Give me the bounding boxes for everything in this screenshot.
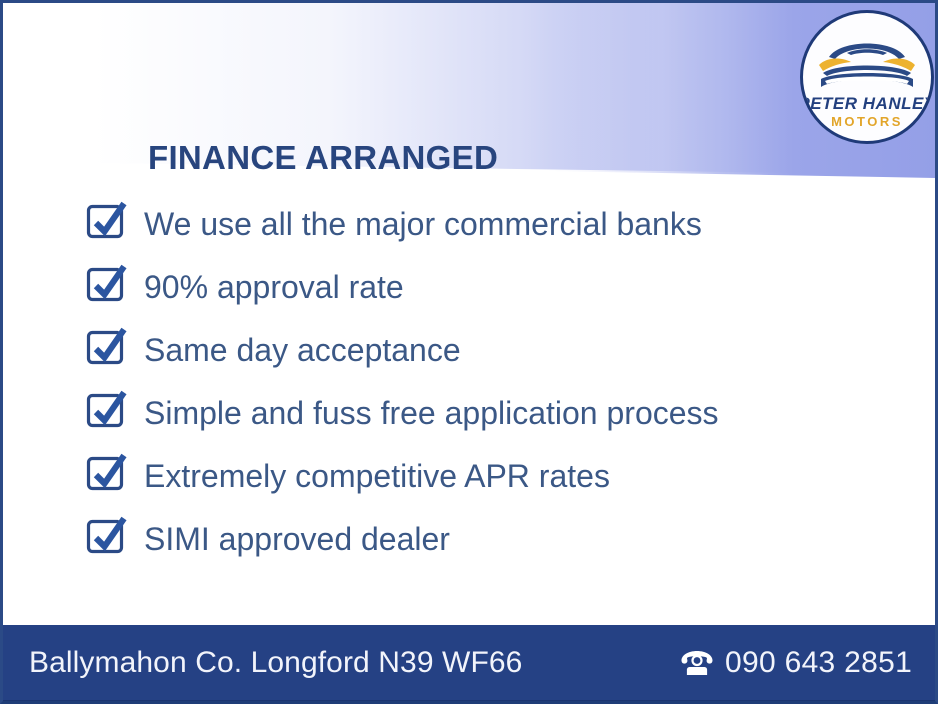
svg-text:MOTORS: MOTORS: [831, 114, 903, 129]
checkbox-checked-icon: [83, 453, 131, 501]
list-item-label: Simple and fuss free application process: [144, 397, 719, 431]
list-item: Simple and fuss free application process: [83, 382, 883, 445]
checkbox-checked-icon: [83, 516, 131, 564]
logo-artwork-icon: PETER HANLEY MOTORS: [803, 13, 931, 141]
list-item-label: Same day acceptance: [144, 334, 461, 368]
finance-arranged-poster: PETER HANLEY MOTORS FINANCE ARRANGED We …: [0, 0, 938, 704]
list-item: SIMI approved dealer: [83, 508, 883, 571]
checkbox-checked-icon: [83, 201, 131, 249]
telephone-icon: [680, 648, 714, 678]
footer-address: Ballymahon Co. Longford N39 WF66: [29, 646, 522, 680]
checkbox-checked-icon: [83, 390, 131, 438]
svg-text:PETER HANLEY: PETER HANLEY: [803, 94, 931, 113]
list-item-label: Extremely competitive APR rates: [144, 460, 610, 494]
list-item: Extremely competitive APR rates: [83, 445, 883, 508]
list-item: Same day acceptance: [83, 319, 883, 382]
list-item-label: SIMI approved dealer: [144, 523, 450, 557]
checkbox-checked-icon: [83, 264, 131, 312]
list-item: We use all the major commercial banks: [83, 193, 883, 256]
checkbox-checked-icon: [83, 327, 131, 375]
peter-hanley-motors-logo: PETER HANLEY MOTORS: [800, 10, 934, 144]
footer-bar: Ballymahon Co. Longford N39 WF66 090 643…: [0, 625, 938, 704]
list-item-label: We use all the major commercial banks: [144, 208, 702, 242]
list-item: 90% approval rate: [83, 256, 883, 319]
footer-phone-group[interactable]: 090 643 2851: [680, 646, 912, 680]
benefits-checklist: We use all the major commercial banks 90…: [83, 193, 883, 571]
footer-phone-number: 090 643 2851: [725, 646, 912, 680]
list-item-label: 90% approval rate: [144, 271, 404, 305]
page-title: FINANCE ARRANGED: [148, 139, 498, 177]
